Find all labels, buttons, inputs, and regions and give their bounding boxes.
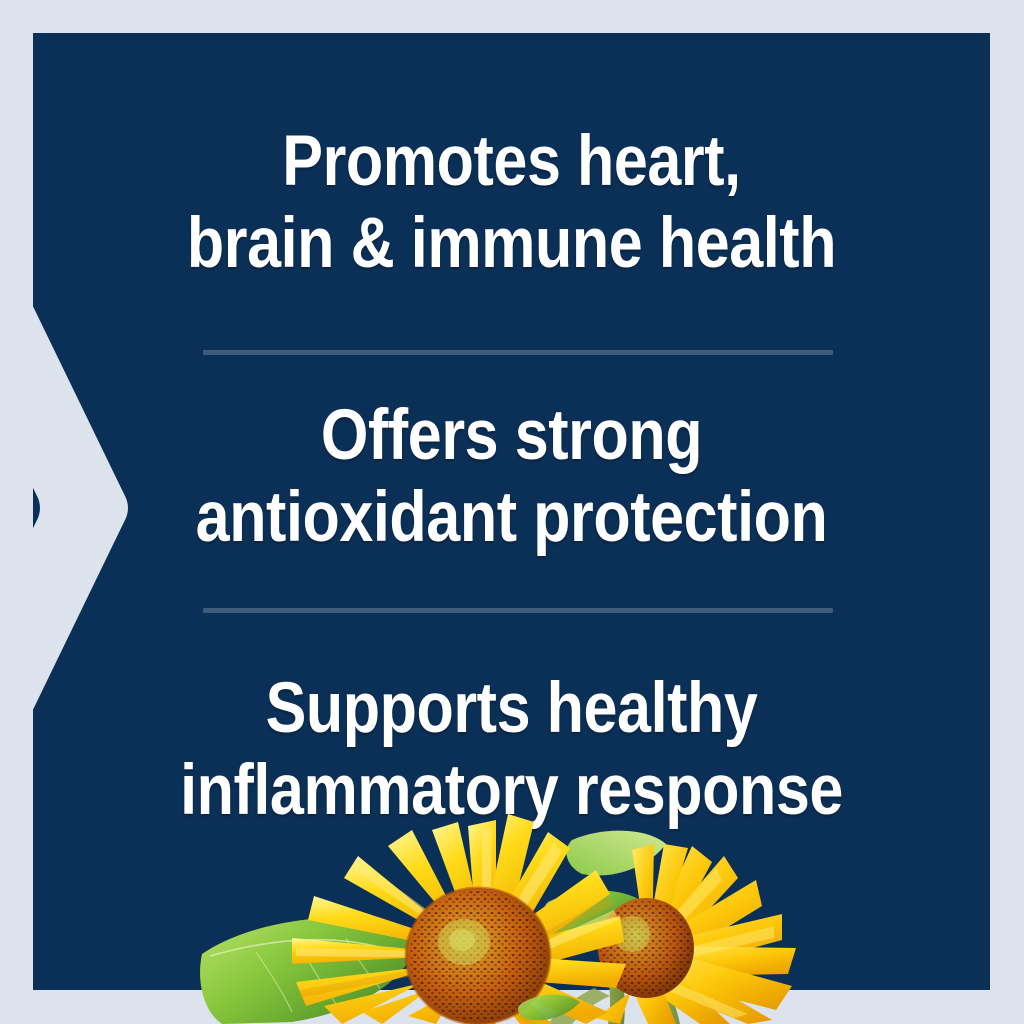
benefit-divider-2: [203, 608, 833, 613]
benefit-inflammatory: Supports healthy inflammatory response: [100, 668, 923, 832]
benefit-divider-1: [203, 350, 833, 355]
benefit-heart-brain-immune: Promotes heart, brain & immune health: [100, 121, 923, 285]
benefits-panel: Promotes heart, brain & immune health Of…: [33, 33, 990, 990]
leaf-base: [518, 995, 580, 1021]
screenshot-stage: Promotes heart, brain & immune health Of…: [0, 0, 1024, 1024]
benefit-antioxidant: Offers strong antioxidant protection: [100, 395, 923, 559]
benefits-list: Promotes heart, brain & immune health Of…: [33, 33, 990, 990]
